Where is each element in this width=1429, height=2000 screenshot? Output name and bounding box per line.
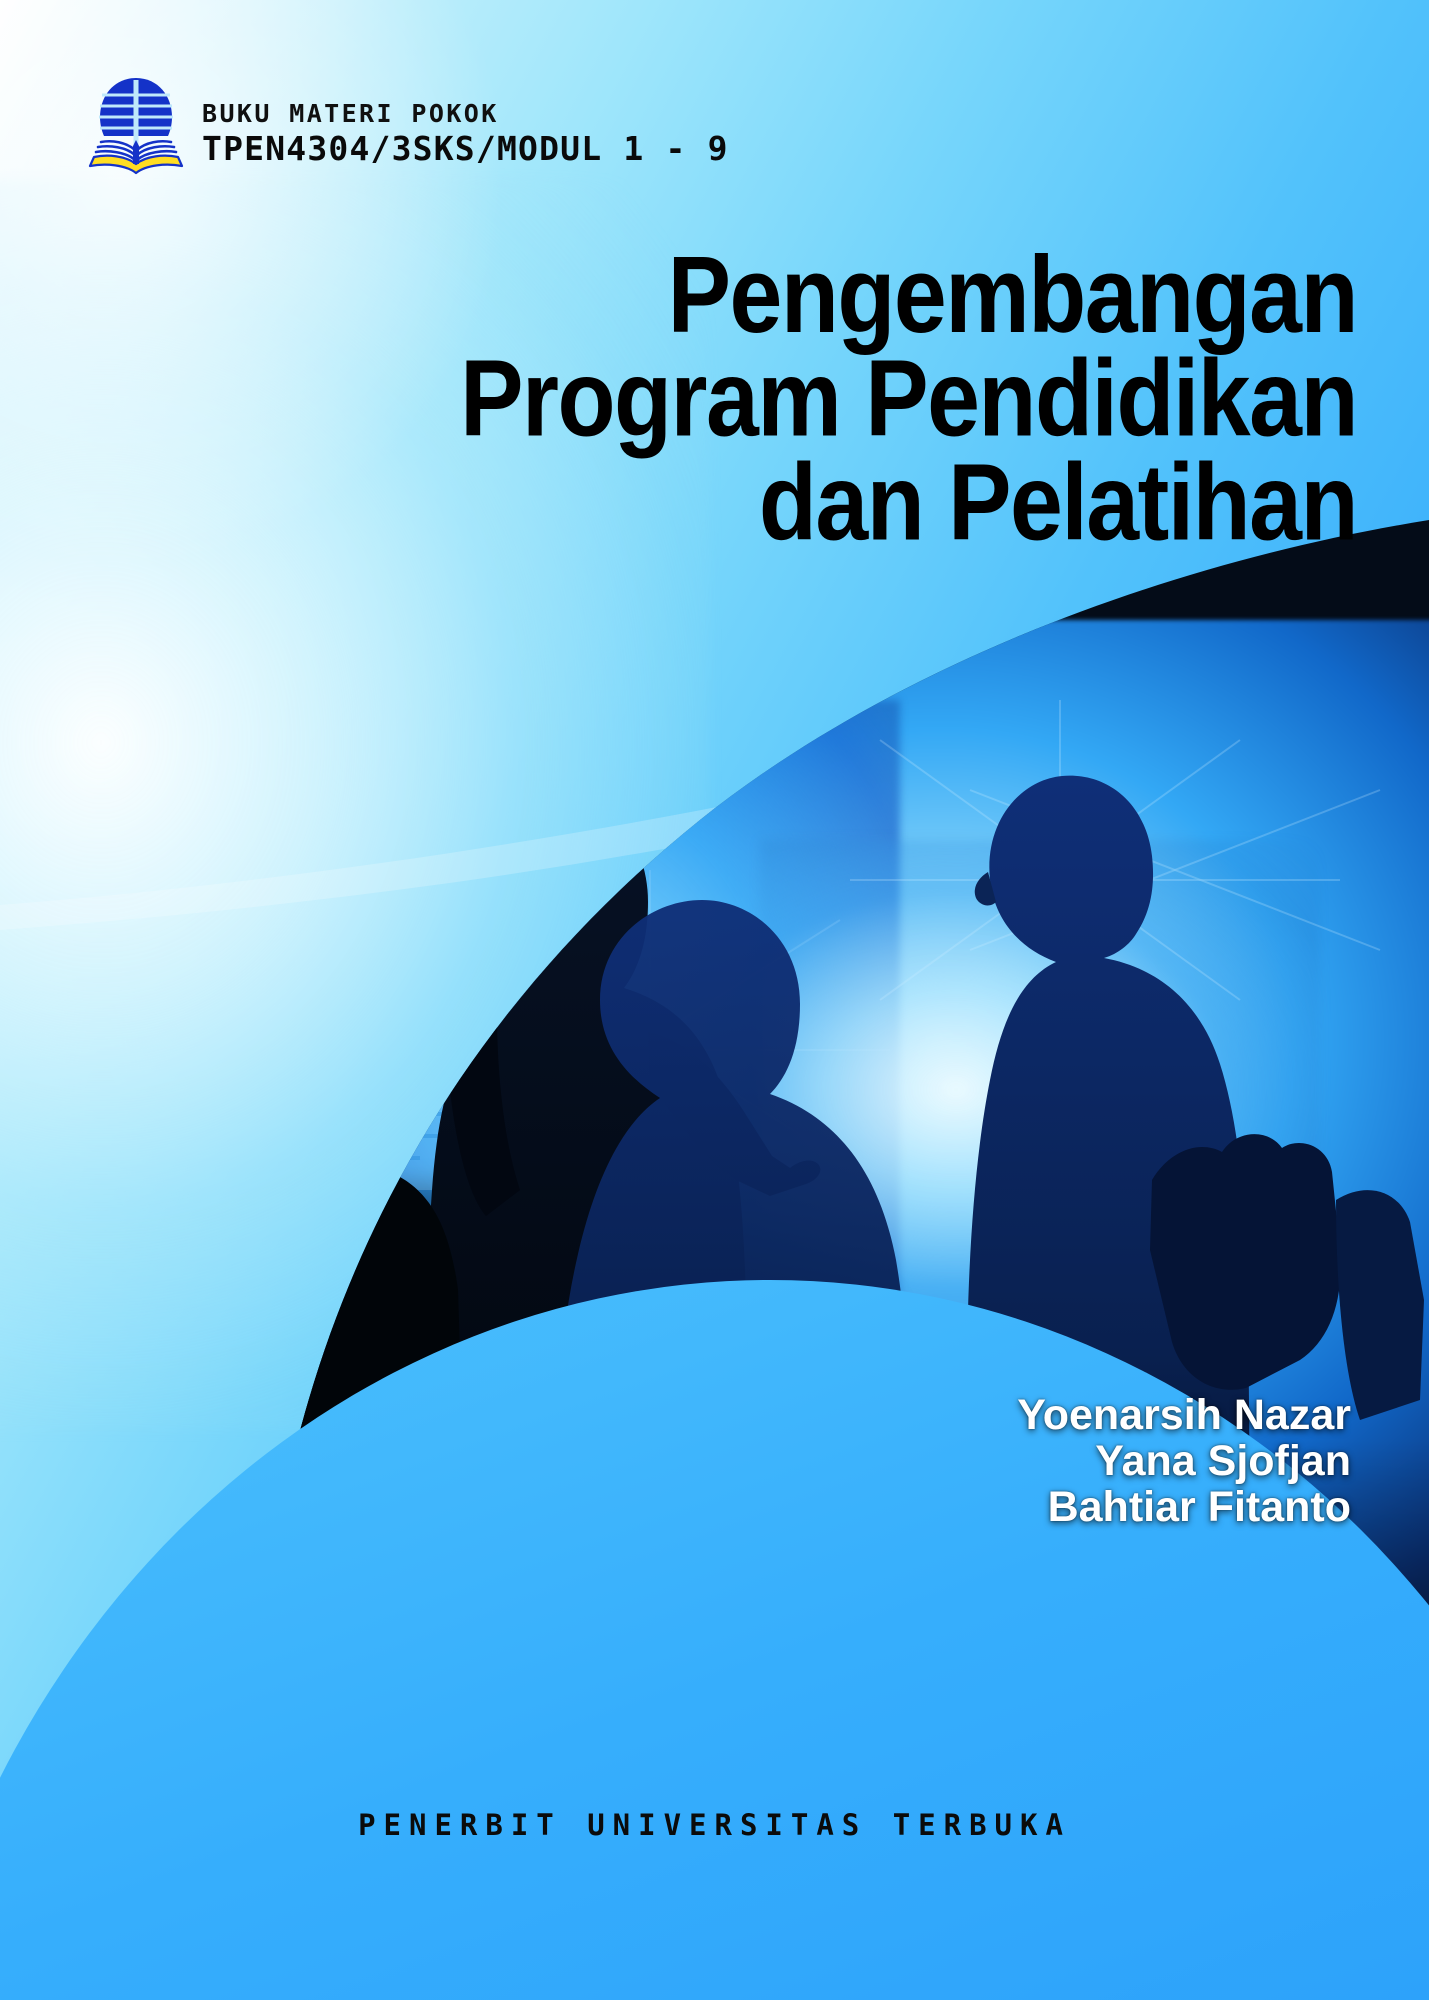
kicker-text: BUKU MATERI POKOK bbox=[202, 98, 729, 129]
author-name-1: Yoenarsih Nazar bbox=[1017, 1392, 1351, 1438]
title-line-2: Program Pendidikan bbox=[60, 348, 1357, 452]
title-line-1: Pengembangan bbox=[60, 244, 1357, 348]
book-cover: BUKU MATERI POKOK TPEN4304/3SKS/MODUL 1 … bbox=[0, 0, 1429, 2000]
author-name-2: Yana Sjofjan bbox=[1017, 1438, 1351, 1484]
module-code-text: TPEN4304/3SKS/MODUL 1 - 9 bbox=[202, 129, 729, 169]
author-list: Yoenarsih Nazar Yana Sjofjan Bahtiar Fit… bbox=[1017, 1392, 1351, 1530]
author-name-3: Bahtiar Fitanto bbox=[1017, 1484, 1351, 1530]
header-block: BUKU MATERI POKOK TPEN4304/3SKS/MODUL 1 … bbox=[88, 72, 729, 184]
publisher-label: PENERBIT UNIVERSITAS TERBUKA bbox=[0, 1808, 1429, 1842]
title-line-3: dan Pelatihan bbox=[60, 452, 1357, 556]
page-title: Pengembangan Program Pendidikan dan Pela… bbox=[60, 244, 1357, 556]
universitas-terbuka-logo bbox=[88, 72, 184, 184]
